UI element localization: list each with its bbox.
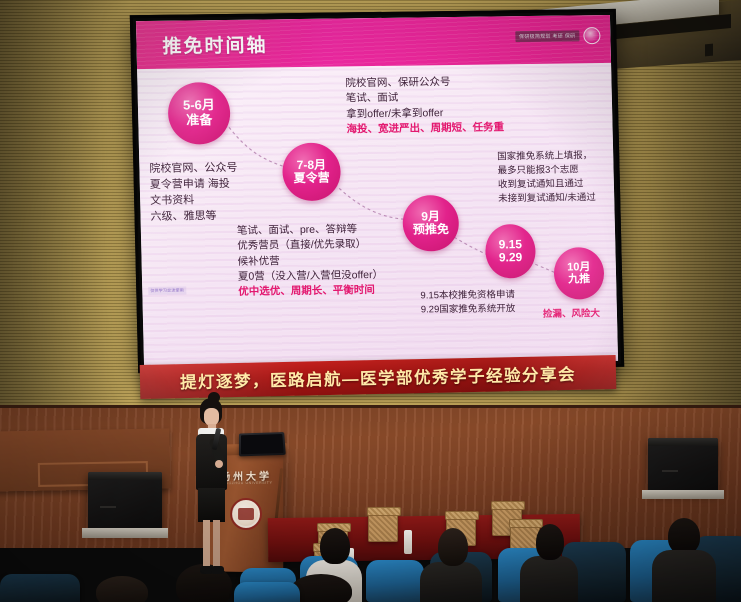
wall-shadow-left bbox=[0, 0, 130, 420]
speaker-right-top bbox=[648, 438, 718, 446]
audience-head bbox=[438, 528, 468, 566]
slide-watermark: 仅供学习交流使用 bbox=[148, 287, 186, 295]
presenter-shoe-right bbox=[211, 566, 224, 574]
gift-box-lid bbox=[509, 519, 543, 528]
audience-shoulders bbox=[420, 562, 482, 602]
dates-line-2: 9.29国家推免系统开放 bbox=[421, 302, 516, 317]
node-label-line2: 预推免 bbox=[413, 223, 449, 237]
slide-content-area: 5-6月 准备 7-8月 夏令营 9月 预推免 9.15 9.29 bbox=[137, 63, 618, 367]
key-dates-notes-block: 9.15本校推免资格申请 9.29国家推免系统开放 bbox=[420, 288, 515, 317]
speaker-left-vent bbox=[100, 506, 116, 508]
slide-brand-badge: 保研极简规划 考研 保研 bbox=[515, 27, 601, 45]
speaker-left-top bbox=[88, 472, 162, 480]
prerec-line-2: 优秀营员（直接/优先录取） bbox=[237, 237, 382, 254]
gift-box-lid bbox=[445, 511, 479, 520]
prepare-line-3: 文书资料 bbox=[150, 192, 238, 209]
presenter-leg-left bbox=[203, 520, 210, 570]
summer-camp-notes-block: 院校官网、保研公众号 笔试、面试 拿到offer/未拿到offer 海投、宽进严… bbox=[345, 74, 504, 137]
presenter-skirt bbox=[198, 488, 225, 522]
natsys-line-2: 最多只能报3个志愿 bbox=[497, 163, 595, 178]
foreground-seat bbox=[0, 574, 80, 602]
node-label-line2: 九推 bbox=[568, 273, 590, 286]
national-system-notes-block: 国家推免系统上填报， 最多只能报3个志愿 收到复试通知且通过 未接到复试通知/未… bbox=[497, 149, 596, 206]
speaker-right-base bbox=[642, 490, 724, 499]
node-label-line1: 10月 bbox=[567, 261, 591, 274]
timeline-node-key-dates: 9.15 9.29 bbox=[485, 224, 536, 279]
prepare-notes-block: 院校官网、公众号 夏令营申请 海投 文书资料 六级、雅思等 bbox=[149, 160, 239, 225]
gift-box-lid bbox=[367, 507, 401, 516]
node-label-line2: 准备 bbox=[186, 113, 212, 128]
camp-line-4-highlight: 海投、宽进严出、周期短、任务重 bbox=[346, 120, 504, 137]
foreground-seat bbox=[234, 582, 300, 602]
projection-screen: 推免时间轴 保研极简规划 考研 保研 bbox=[130, 9, 624, 373]
presenter-laptop bbox=[239, 432, 286, 456]
brand-seal-icon bbox=[583, 27, 600, 44]
node-label-line2: 9.29 bbox=[499, 251, 523, 265]
prepare-line-2: 夏令营申请 海投 bbox=[150, 176, 238, 193]
node-label-line2: 夏令营 bbox=[294, 172, 330, 186]
audience-seat bbox=[366, 560, 424, 602]
audience-shoulders bbox=[520, 556, 578, 602]
ceiling-mount-bracket bbox=[705, 44, 713, 57]
event-banner-text: 提灯逐梦，医路启航—医学部优秀学子经验分享会 bbox=[180, 361, 576, 393]
water-bottle bbox=[404, 530, 412, 554]
presenter-speaker-person bbox=[186, 398, 234, 583]
gift-box-lid bbox=[491, 501, 525, 510]
speaker-right-vent bbox=[662, 470, 678, 472]
laptop-screen bbox=[241, 434, 284, 454]
audience-head bbox=[668, 518, 700, 554]
natsys-line-1: 国家推免系统上填报， bbox=[497, 149, 595, 164]
presenter-hand bbox=[215, 460, 223, 468]
gift-box bbox=[368, 512, 398, 542]
screen-display-area: 推免时间轴 保研极简规划 考研 保研 bbox=[136, 15, 618, 367]
audience-head bbox=[320, 528, 350, 564]
photograph-scene: 推免时间轴 保研极简规划 考研 保研 bbox=[0, 0, 741, 602]
presenter-leg-right bbox=[213, 520, 220, 570]
university-crest-emblem bbox=[230, 498, 262, 530]
brand-chip-label: 保研极简规划 考研 保研 bbox=[515, 30, 580, 42]
presentation-slide: 推免时间轴 保研极简规划 考研 保研 bbox=[136, 15, 618, 367]
speaker-left-base bbox=[82, 528, 168, 538]
speaker-left bbox=[88, 472, 162, 530]
prepare-line-4: 六级、雅思等 bbox=[150, 208, 238, 225]
october-notes-block: 捡漏、风险大 bbox=[543, 307, 600, 322]
slide-title: 推免时间轴 bbox=[162, 30, 268, 58]
october-line-1: 捡漏、风险大 bbox=[543, 307, 600, 322]
prerec-line-5-highlight: 优中选优、周期长、平衡时间 bbox=[238, 283, 383, 300]
slide-title-bar: 推免时间轴 保研极简规划 考研 保研 bbox=[136, 15, 611, 69]
audience-shoulders bbox=[652, 550, 716, 602]
audience-head bbox=[536, 524, 564, 560]
speaker-right bbox=[648, 438, 718, 492]
natsys-line-3: 收到复试通知且通过 bbox=[498, 177, 596, 192]
pre-recommend-notes-block: 笔试、面试、pre、答辩等 优秀营员（直接/优先录取） 候补优营 夏0营（没入营… bbox=[237, 222, 384, 301]
crest-inner-mark bbox=[238, 508, 254, 520]
natsys-line-4: 未接到复试通知/未通过 bbox=[498, 191, 596, 206]
dates-line-1: 9.15本校推免资格申请 bbox=[420, 288, 515, 303]
timeline-node-sep: 9月 预推免 bbox=[402, 195, 459, 252]
foreground-audience-head bbox=[96, 576, 148, 602]
timeline-node-may-jun: 5-6月 准备 bbox=[167, 82, 230, 145]
timeline-node-oct: 10月 九推 bbox=[553, 247, 604, 300]
timeline-node-jul-aug: 7-8月 夏令营 bbox=[282, 142, 341, 201]
prepare-line-1: 院校官网、公众号 bbox=[149, 160, 237, 177]
